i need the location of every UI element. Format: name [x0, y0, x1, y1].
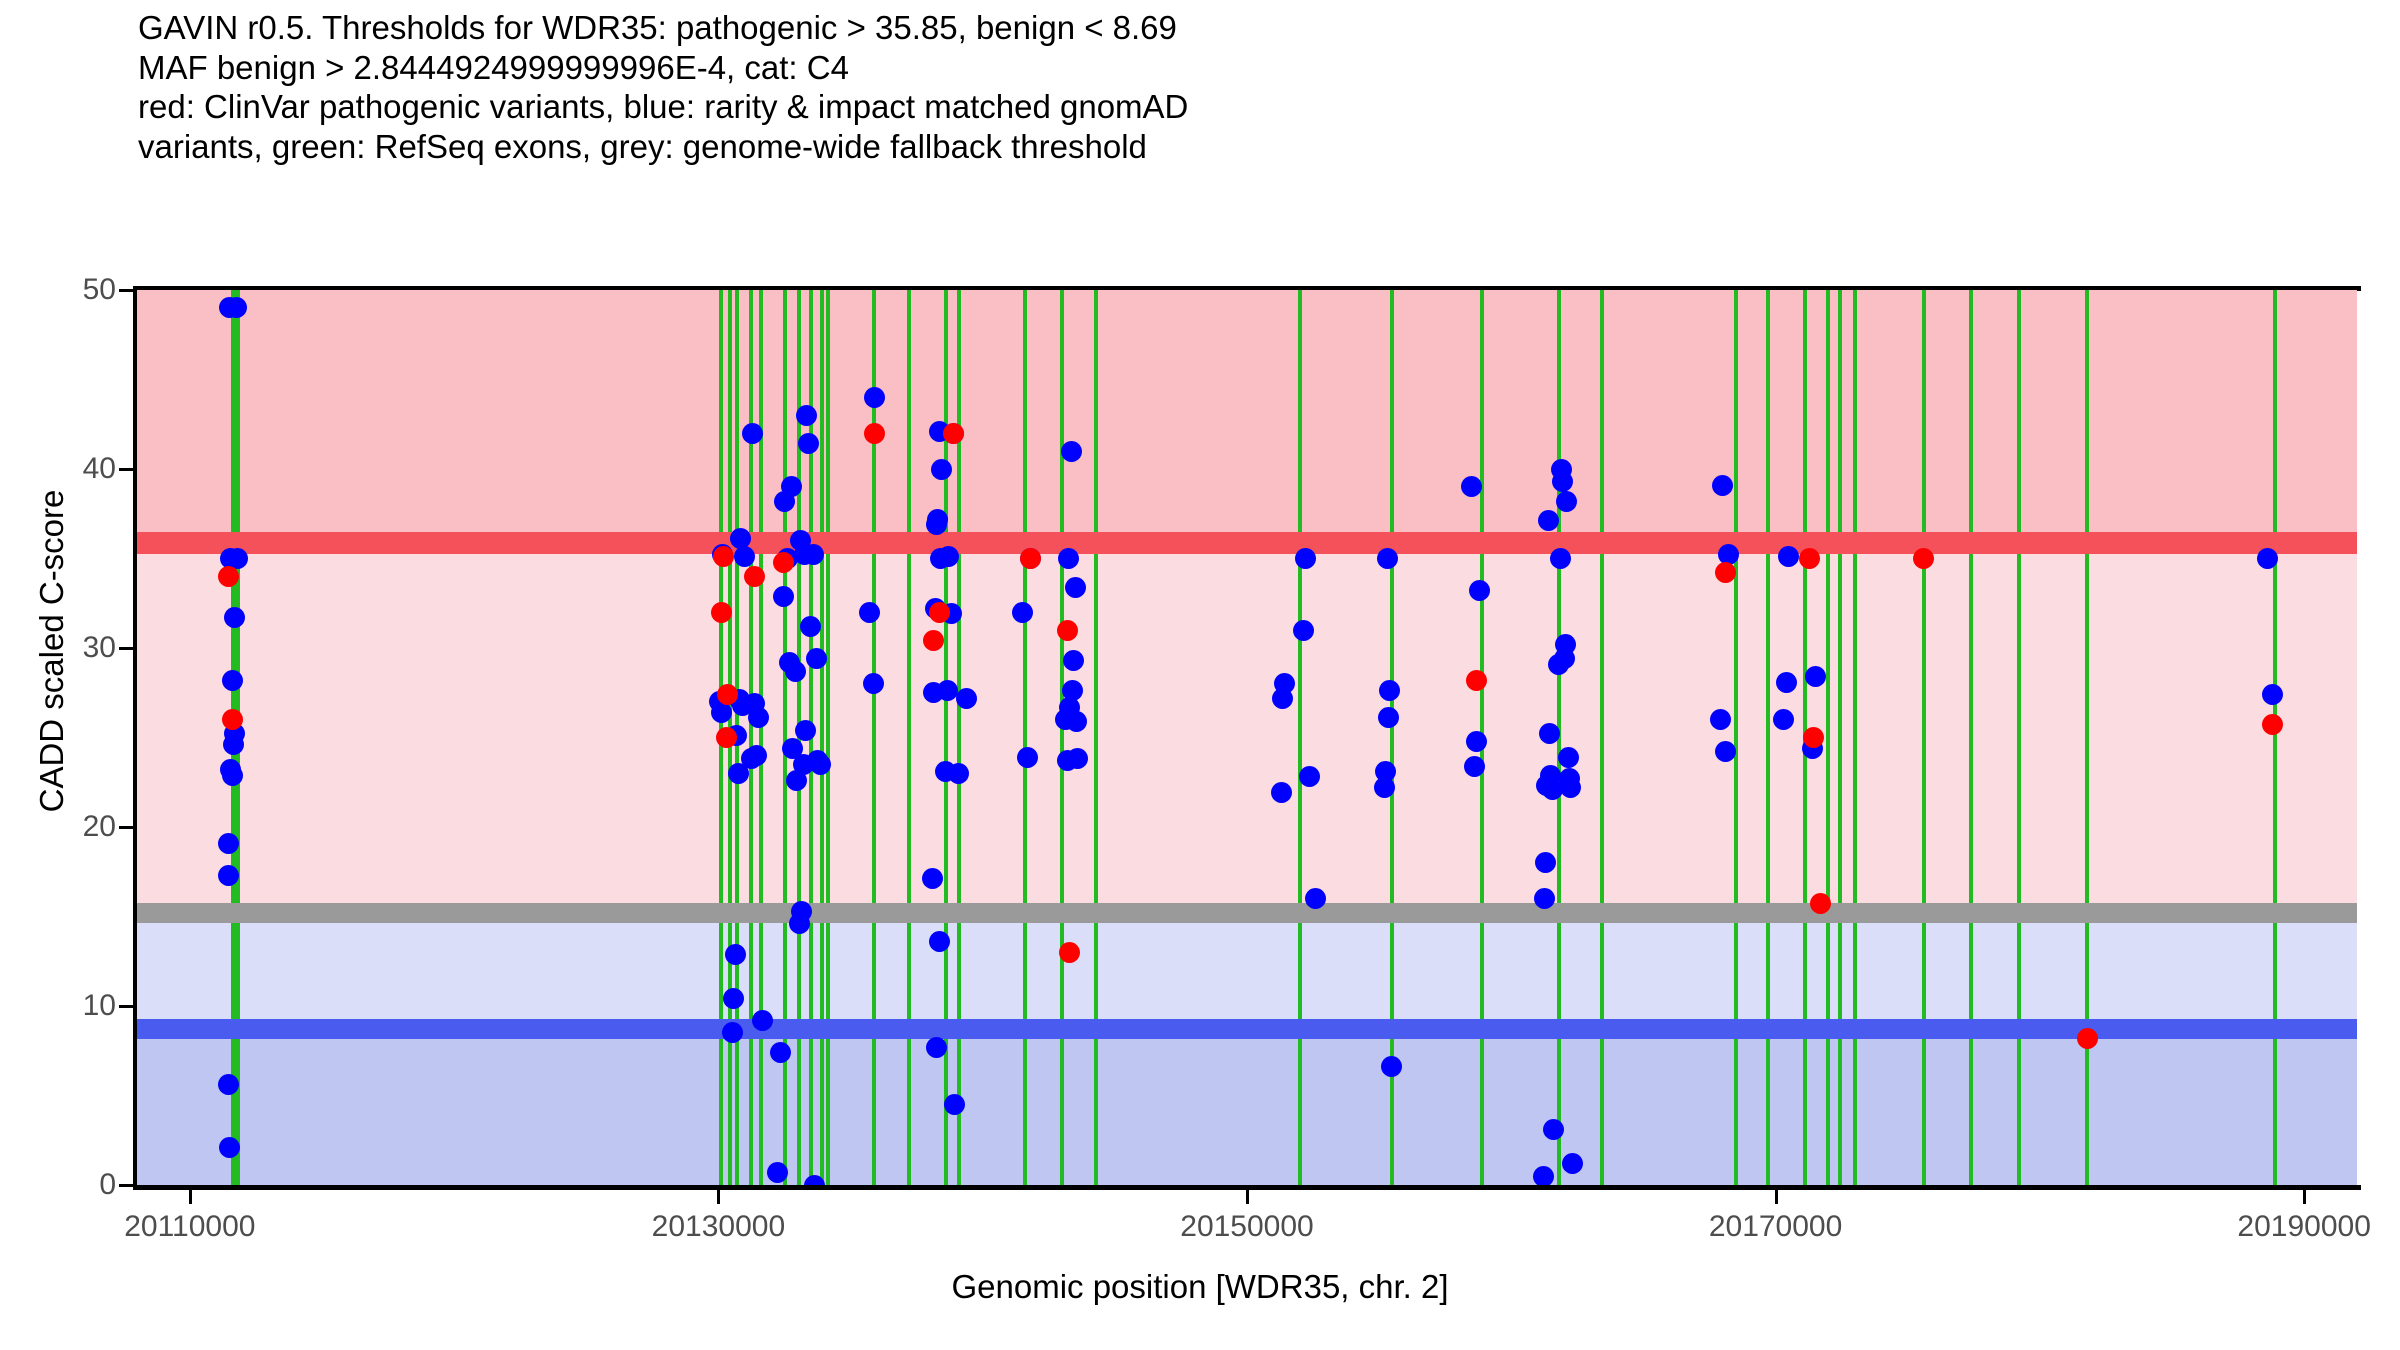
y-tick-label: 10 — [83, 989, 116, 1023]
band-vus-upper — [137, 543, 2357, 913]
x-tick — [1775, 1190, 1778, 1204]
gnomad-point — [1556, 491, 1577, 512]
gnomad-point — [795, 720, 816, 741]
pathogenic-threshold-line — [137, 532, 2357, 554]
gnomad-point — [1710, 709, 1731, 730]
gnomad-point — [219, 1137, 240, 1158]
gnomad-point — [1374, 777, 1395, 798]
gnomad-point — [1017, 747, 1038, 768]
gnomad-point — [722, 1022, 743, 1043]
exon-line — [1060, 290, 1064, 1185]
exon-line — [1298, 290, 1302, 1185]
y-tick — [119, 289, 133, 292]
plot-panel — [137, 290, 2357, 1185]
exon-line — [2017, 290, 2021, 1185]
gnomad-point — [1543, 1119, 1564, 1140]
clinvar-point — [711, 602, 732, 623]
clinvar-point — [2077, 1028, 2098, 1049]
y-tick — [119, 468, 133, 471]
y-tick-label: 20 — [83, 810, 116, 844]
clinvar-point — [773, 552, 794, 573]
exon-line — [1390, 290, 1394, 1185]
gnomad-point — [1272, 688, 1293, 709]
y-tick — [119, 647, 133, 650]
gnomad-point — [1061, 441, 1082, 462]
x-tick-label: 20110000 — [124, 1210, 255, 1244]
gnomad-point — [226, 297, 247, 318]
gnomad-point — [929, 931, 950, 952]
y-tick — [119, 826, 133, 829]
exon-line — [2273, 290, 2277, 1185]
gnomad-point — [218, 865, 239, 886]
gnomad-point — [222, 670, 243, 691]
gnomad-point — [1464, 756, 1485, 777]
exon-line — [907, 290, 911, 1185]
gnomad-point — [806, 648, 827, 669]
title-line-1: GAVIN r0.5. Thresholds for WDR35: pathog… — [138, 8, 2378, 48]
gnomad-point — [773, 586, 794, 607]
benign-threshold-line — [137, 1019, 2357, 1039]
exon-line — [1600, 290, 1604, 1185]
title-line-2: MAF benign > 2.8444924999999996E-4, cat:… — [138, 48, 2378, 88]
x-tick-label: 20130000 — [652, 1210, 785, 1244]
gnomad-point — [781, 476, 802, 497]
gnomad-point — [926, 514, 947, 535]
y-tick — [119, 1005, 133, 1008]
gnomad-point — [1712, 475, 1733, 496]
exon-line — [2085, 290, 2089, 1185]
gnomad-point — [218, 833, 239, 854]
gnomad-point — [1534, 888, 1555, 909]
x-tick-label: 20190000 — [2237, 1210, 2370, 1244]
gnomad-point — [711, 702, 732, 723]
gnomad-point — [1776, 672, 1797, 693]
exon-line — [826, 290, 830, 1185]
band-benign — [137, 1029, 2357, 1185]
gnomad-point — [1299, 766, 1320, 787]
gnomad-point — [2262, 684, 2283, 705]
exon-line — [1094, 290, 1098, 1185]
x-tick — [189, 1190, 192, 1204]
clinvar-point — [1020, 548, 1041, 569]
gnomad-point — [222, 765, 243, 786]
gnomad-point — [863, 673, 884, 694]
gnomad-point — [734, 546, 755, 567]
y-tick-label: 0 — [99, 1168, 116, 1202]
gnomad-point — [926, 1037, 947, 1058]
gnomad-point — [218, 1074, 239, 1095]
gnomad-point — [1550, 548, 1571, 569]
y-axis-title: CADD scaled C-score — [33, 201, 71, 1101]
fallback-threshold-line — [137, 903, 2357, 923]
title-line-3: red: ClinVar pathogenic variants, blue: … — [138, 87, 2378, 127]
exon-line — [1853, 290, 1857, 1185]
gnomad-point — [859, 602, 880, 623]
gnomad-point — [1012, 602, 1033, 623]
clinvar-point — [864, 423, 885, 444]
clinvar-point — [943, 423, 964, 444]
gnomad-point — [1293, 620, 1314, 641]
gnomad-point — [789, 913, 810, 934]
gnomad-point — [1377, 548, 1398, 569]
gnomad-point — [770, 1042, 791, 1063]
gnomad-point — [956, 688, 977, 709]
band-vus-lower — [137, 913, 2357, 1030]
y-tick-label: 40 — [83, 452, 116, 486]
band-pathogenic — [137, 290, 2357, 543]
clinvar-point — [744, 566, 765, 587]
gnomad-point — [742, 423, 763, 444]
gnomad-point — [938, 546, 959, 567]
y-tick-label: 50 — [83, 273, 116, 307]
exon-line — [1838, 290, 1842, 1185]
exon-line — [1826, 290, 1830, 1185]
gnomad-point — [1533, 1166, 1554, 1185]
x-tick — [717, 1190, 720, 1204]
gnomad-point — [723, 988, 744, 1009]
x-tick-label: 20150000 — [1180, 1210, 1313, 1244]
chart-root: GAVIN r0.5. Thresholds for WDR35: pathog… — [0, 0, 2400, 1350]
gnomad-point — [752, 1010, 773, 1031]
x-tick — [1246, 1190, 1249, 1204]
gnomad-point — [1773, 709, 1794, 730]
y-tick-label: 30 — [83, 631, 116, 665]
clinvar-point — [1057, 620, 1078, 641]
gnomad-point — [1805, 666, 1826, 687]
gnomad-point — [1381, 1056, 1402, 1077]
gnomad-point — [931, 459, 952, 480]
exon-line — [1023, 290, 1027, 1185]
exon-line — [759, 290, 763, 1185]
gnomad-point — [1295, 548, 1316, 569]
gnomad-point — [748, 707, 769, 728]
x-tick-label: 20170000 — [1709, 1210, 1842, 1244]
clinvar-point — [1466, 670, 1487, 691]
clinvar-point — [716, 727, 737, 748]
y-tick — [119, 1184, 133, 1187]
title-line-4: variants, green: RefSeq exons, grey: gen… — [138, 127, 2378, 167]
gnomad-point — [1066, 711, 1087, 732]
gnomad-point — [2257, 548, 2278, 569]
gnomad-point — [937, 680, 958, 701]
clinvar-point — [218, 566, 239, 587]
exon-line — [1969, 290, 1973, 1185]
exon-line — [1766, 290, 1770, 1185]
gnomad-point — [779, 652, 800, 673]
plot-canvas — [137, 290, 2357, 1185]
gnomad-point — [1558, 747, 1579, 768]
exon-line — [1734, 290, 1738, 1185]
clinvar-point — [929, 602, 950, 623]
chart-title-block: GAVIN r0.5. Thresholds for WDR35: pathog… — [138, 8, 2378, 166]
exon-line — [820, 290, 824, 1185]
gnomad-point — [810, 754, 831, 775]
gnomad-point — [864, 387, 885, 408]
x-tick — [2303, 1190, 2306, 1204]
exon-line — [1922, 290, 1926, 1185]
gnomad-point — [1065, 577, 1086, 598]
gnomad-point — [1554, 648, 1575, 669]
gnomad-point — [1562, 1153, 1583, 1174]
gnomad-point — [725, 944, 746, 965]
clinvar-point — [1913, 548, 1934, 569]
x-axis-title: Genomic position [WDR35, chr. 2] — [0, 1268, 2400, 1306]
gnomad-point — [1466, 731, 1487, 752]
gnomad-point — [1058, 548, 1079, 569]
